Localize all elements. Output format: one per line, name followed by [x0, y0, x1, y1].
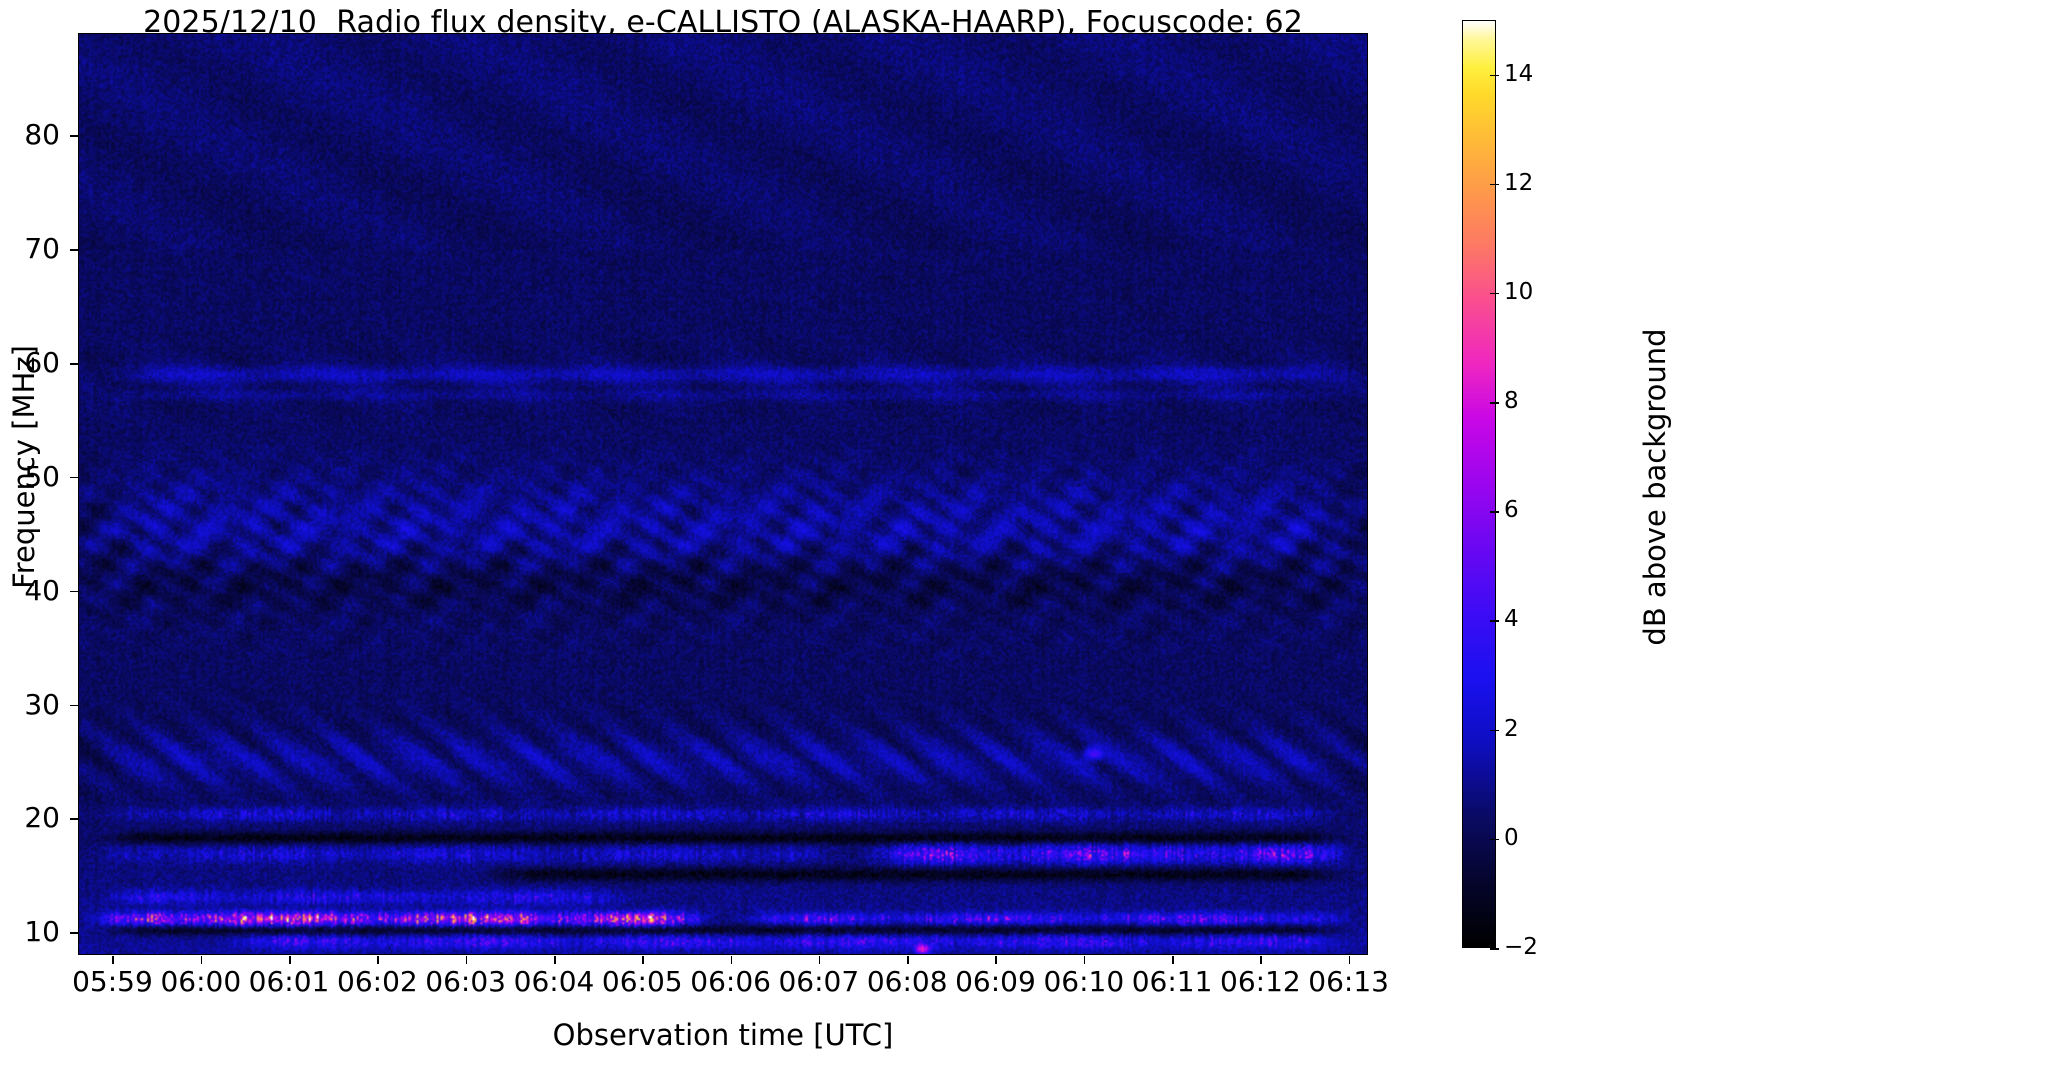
x-tick-mark	[377, 956, 379, 964]
colorbar-tick-mark	[1490, 75, 1499, 77]
y-tick-label: 80	[0, 121, 60, 149]
x-tick-mark	[819, 956, 821, 964]
colorbar-label: dB above background	[1638, 227, 1672, 747]
x-tick-mark	[1349, 956, 1351, 964]
colorbar-tick-mark	[1490, 730, 1499, 732]
x-tick-mark	[554, 956, 556, 964]
x-tick-mark	[1260, 956, 1262, 964]
y-tick-label: 70	[0, 235, 60, 263]
x-tick-label: 06:13	[1269, 967, 1429, 997]
x-tick-mark	[1084, 956, 1086, 964]
colorbar-tick-label: 10	[1504, 281, 1533, 304]
colorbar-tick-label: −2	[1504, 936, 1538, 959]
colorbar-tick-label: 6	[1504, 499, 1519, 522]
colorbar-tick-label: 8	[1504, 390, 1519, 413]
y-tick-label: 40	[0, 577, 60, 605]
y-tick-mark	[70, 705, 78, 707]
x-tick-mark	[112, 956, 114, 964]
colorbar[interactable]	[1462, 20, 1496, 948]
x-axis-label: Observation time [UTC]	[78, 1018, 1368, 1052]
y-tick-label: 30	[0, 691, 60, 719]
x-tick-mark	[289, 956, 291, 964]
colorbar-tick-label: 4	[1504, 608, 1519, 631]
y-tick-mark	[70, 932, 78, 934]
x-tick-mark	[907, 956, 909, 964]
colorbar-tick-mark	[1490, 620, 1499, 622]
x-tick-mark	[995, 956, 997, 964]
x-tick-mark	[731, 956, 733, 964]
colorbar-tick-mark	[1490, 511, 1499, 513]
y-tick-mark	[70, 818, 78, 820]
colorbar-tick-label: 14	[1504, 63, 1533, 86]
y-tick-label: 60	[0, 349, 60, 377]
colorbar-tick-mark	[1490, 402, 1499, 404]
colorbar-tick-label: 2	[1504, 718, 1519, 741]
colorbar-tick-mark	[1490, 184, 1499, 186]
spectrogram-plot[interactable]	[78, 33, 1368, 955]
x-tick-mark	[466, 956, 468, 964]
y-tick-mark	[70, 591, 78, 593]
y-tick-mark	[70, 363, 78, 365]
y-tick-label: 20	[0, 804, 60, 832]
x-tick-mark	[1172, 956, 1174, 964]
colorbar-tick-mark	[1490, 839, 1499, 841]
colorbar-tick-mark	[1490, 948, 1499, 950]
spectrogram-image	[79, 34, 1367, 954]
x-tick-mark	[201, 956, 203, 964]
y-tick-mark	[70, 135, 78, 137]
colorbar-tick-label: 0	[1504, 827, 1519, 850]
spectrogram-figure: 2025/12/10 Radio flux density, e-CALLIST…	[0, 0, 2047, 1067]
y-tick-label: 10	[0, 918, 60, 946]
y-tick-label: 50	[0, 463, 60, 491]
y-tick-mark	[70, 249, 78, 251]
colorbar-tick-label: 12	[1504, 172, 1533, 195]
x-tick-mark	[642, 956, 644, 964]
y-tick-mark	[70, 477, 78, 479]
colorbar-tick-mark	[1490, 293, 1499, 295]
